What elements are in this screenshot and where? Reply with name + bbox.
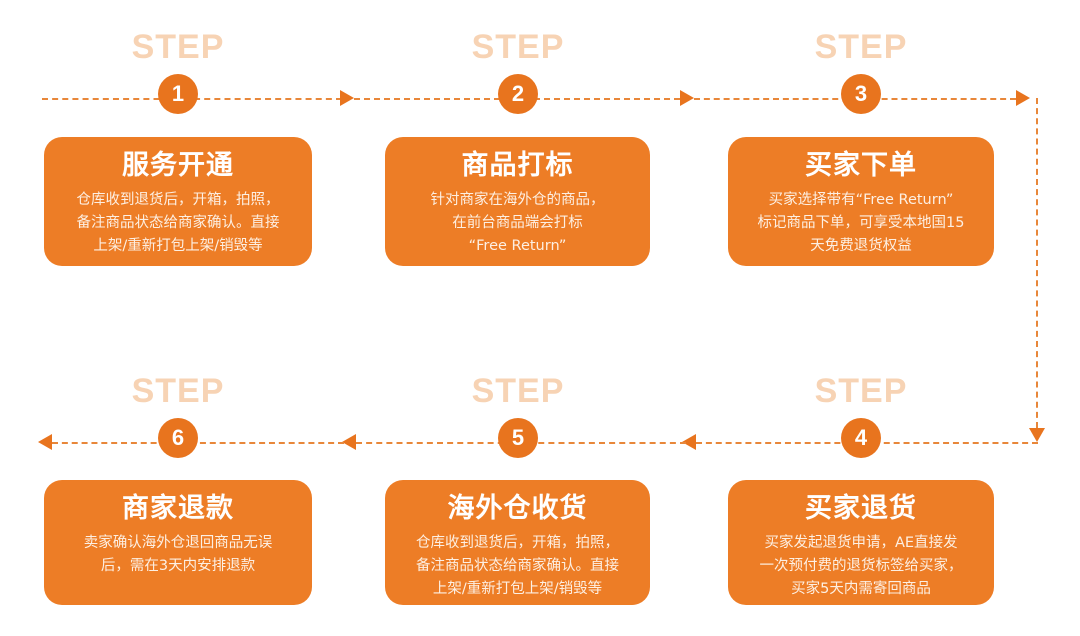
step-head-2: STEP 2: [418, 28, 618, 114]
step-word-1: STEP: [78, 28, 278, 66]
step-body-6: 卖家确认海外仓退回商品无误 后，需在3天内安排退款: [84, 532, 273, 578]
step-card-5[interactable]: 海外仓收货 仓库收到退货后，开箱，拍照， 备注商品状态给商家确认。直接 上架/重…: [385, 480, 650, 605]
step-body-5: 仓库收到退货后，开箱，拍照， 备注商品状态给商家确认。直接 上架/重新打包上架/…: [416, 532, 619, 601]
arrow-left-bottom-3: [38, 434, 52, 450]
step-head-4: STEP 4: [761, 372, 961, 458]
step-number-6: 6: [158, 418, 198, 458]
step-head-1: STEP 1: [78, 28, 278, 114]
step-card-3[interactable]: 买家下单 买家选择带有“Free Return” 标记商品下单，可享受本地国15…: [728, 137, 994, 266]
step-number-2: 2: [498, 74, 538, 114]
connector-right-vertical: [1036, 98, 1038, 428]
flow-diagram: STEP 1 服务开通 仓库收到退货后，开箱，拍照， 备注商品状态给商家确认。直…: [0, 0, 1080, 636]
step-title-5: 海外仓收货: [448, 492, 588, 526]
step-body-1: 仓库收到退货后，开箱，拍照， 备注商品状态给商家确认。直接 上架/重新打包上架/…: [77, 189, 280, 258]
step-head-6: STEP 6: [78, 372, 278, 458]
step-title-2: 商品打标: [462, 149, 574, 183]
step-word-4: STEP: [761, 372, 961, 410]
step-number-4: 4: [841, 418, 881, 458]
step-head-3: STEP 3: [761, 28, 961, 114]
step-number-1: 1: [158, 74, 198, 114]
step-title-6: 商家退款: [122, 492, 234, 526]
arrow-left-bottom-2: [342, 434, 356, 450]
step-word-2: STEP: [418, 28, 618, 66]
step-word-3: STEP: [761, 28, 961, 66]
step-head-5: STEP 5: [418, 372, 618, 458]
step-word-6: STEP: [78, 372, 278, 410]
step-word-5: STEP: [418, 372, 618, 410]
step-title-3: 买家下单: [805, 149, 917, 183]
step-body-3: 买家选择带有“Free Return” 标记商品下单，可享受本地国15 天免费退…: [758, 189, 965, 258]
step-card-1[interactable]: 服务开通 仓库收到退货后，开箱，拍照， 备注商品状态给商家确认。直接 上架/重新…: [44, 137, 312, 266]
step-card-4[interactable]: 买家退货 买家发起退货申请，AE直接发 一次预付费的退货标签给买家， 买家5天内…: [728, 480, 994, 605]
step-title-4: 买家退货: [805, 492, 917, 526]
step-card-6[interactable]: 商家退款 卖家确认海外仓退回商品无误 后，需在3天内安排退款: [44, 480, 312, 605]
step-number-5: 5: [498, 418, 538, 458]
arrow-right-top-3: [1016, 90, 1030, 106]
arrow-down-right: [1029, 428, 1045, 442]
step-body-4: 买家发起退货申请，AE直接发 一次预付费的退货标签给买家， 买家5天内需寄回商品: [760, 532, 963, 601]
arrow-right-top-2: [680, 90, 694, 106]
step-body-2: 针对商家在海外仓的商品， 在前台商品端会打标 “Free Return”: [431, 189, 605, 258]
step-title-1: 服务开通: [122, 149, 234, 183]
step-number-3: 3: [841, 74, 881, 114]
step-card-2[interactable]: 商品打标 针对商家在海外仓的商品， 在前台商品端会打标 “Free Return…: [385, 137, 650, 266]
arrow-right-top-1: [340, 90, 354, 106]
